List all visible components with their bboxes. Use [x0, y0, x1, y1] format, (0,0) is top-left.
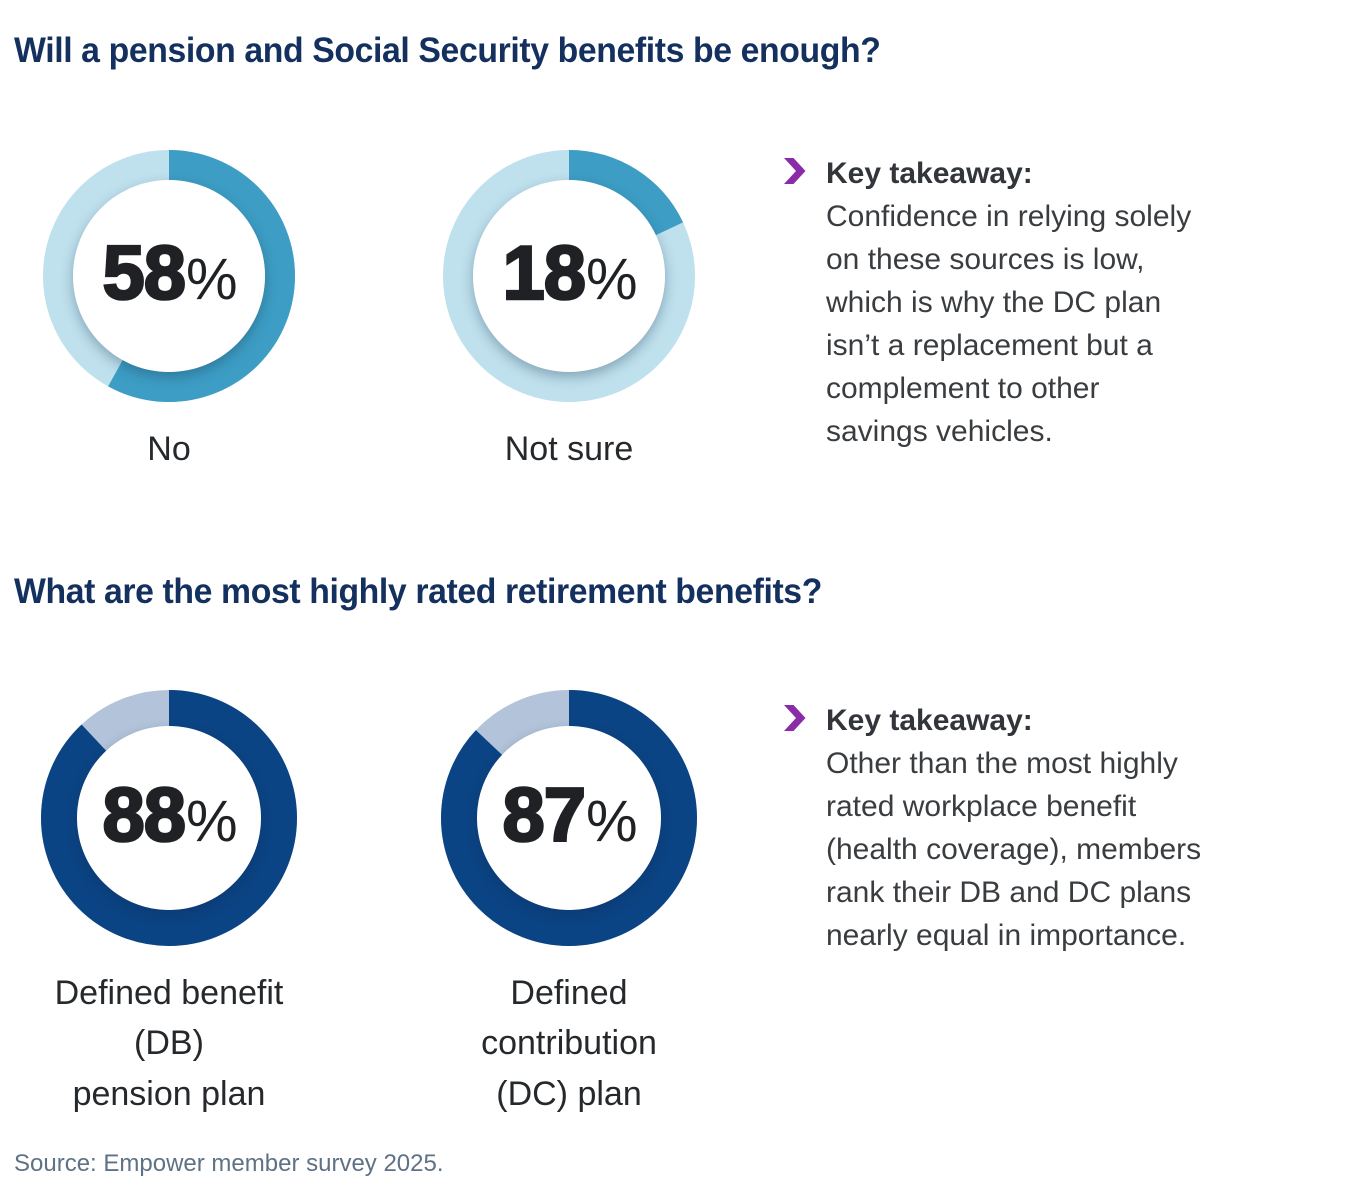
donut-value-unit-not-sure: % [586, 247, 637, 312]
donut-hole-no: 58% [73, 180, 265, 372]
key-takeaway-block-2: Key takeaway: Other than the most highly… [782, 699, 1202, 957]
donut-group-not-sure: 18% Not sure [419, 150, 719, 474]
donut-hole-not-sure: 18% [473, 180, 665, 372]
donut-label-defined-contribution: Defined contribution (DC) plan [419, 968, 719, 1119]
key-takeaway-text-2: Key takeaway: Other than the most highly… [826, 699, 1202, 957]
donut-label-text-no: No [147, 430, 190, 468]
source-note: Source: Empower member survey 2025. [14, 1152, 444, 1176]
donut-label-line2-defined-contribution: (DC) plan [496, 1075, 641, 1113]
chevron-right-icon [782, 156, 808, 186]
donut-label-line1-defined-contribution: Defined contribution [481, 974, 657, 1062]
donut-value-no: 58% [102, 236, 235, 312]
donut-value-unit-no: % [186, 247, 237, 312]
donut-hole-defined-contribution: 87% [477, 726, 661, 910]
donut-value-not-sure: 18% [502, 236, 635, 312]
donut-chart-defined-contribution: 87% [441, 690, 697, 946]
donut-label-no: No [19, 424, 319, 474]
donut-value-unit-defined-benefit: % [186, 789, 237, 854]
donut-group-defined-benefit: 88% Defined benefit (DB) pension plan [19, 690, 319, 1119]
key-takeaway-body-1: Confidence in relying solely on these so… [826, 195, 1202, 453]
key-takeaway-text-1: Key takeaway: Confidence in relying sole… [826, 152, 1202, 453]
donut-group-defined-contribution: 87% Defined contribution (DC) plan [419, 690, 719, 1119]
chevron-right-icon [782, 703, 808, 733]
donut-value-number-not-sure: 18 [502, 231, 585, 316]
donut-hole-defined-benefit: 88% [77, 726, 261, 910]
donut-chart-no: 58% [43, 150, 295, 402]
infographic-page: Will a pension and Social Security benef… [0, 0, 1366, 1204]
donut-label-text-not-sure: Not sure [505, 430, 634, 468]
donut-value-number-defined-contribution: 87 [502, 773, 585, 858]
donut-value-unit-defined-contribution: % [586, 789, 637, 854]
donut-label-defined-benefit: Defined benefit (DB) pension plan [19, 968, 319, 1119]
donut-value-defined-benefit: 88% [102, 778, 235, 854]
donut-chart-not-sure: 18% [443, 150, 695, 402]
donut-label-line1-defined-benefit: Defined benefit (DB) [55, 974, 284, 1062]
key-takeaway-block-1: Key takeaway: Confidence in relying sole… [782, 152, 1202, 453]
donut-value-number-no: 58 [102, 231, 185, 316]
section-title-highly-rated-benefits: What are the most highly rated retiremen… [14, 574, 822, 609]
donut-chart-defined-benefit: 88% [41, 690, 297, 946]
section-title-pension-social-security: Will a pension and Social Security benef… [14, 33, 881, 68]
donut-label-line2-defined-benefit: pension plan [73, 1075, 266, 1113]
donut-label-not-sure: Not sure [419, 424, 719, 474]
key-takeaway-body-2: Other than the most highly rated workpla… [826, 742, 1202, 957]
key-takeaway-label-2: Key takeaway: [826, 699, 1202, 742]
key-takeaway-label-1: Key takeaway: [826, 152, 1202, 195]
donut-value-defined-contribution: 87% [502, 778, 635, 854]
donut-value-number-defined-benefit: 88 [102, 773, 185, 858]
donut-group-no: 58% No [19, 150, 319, 474]
